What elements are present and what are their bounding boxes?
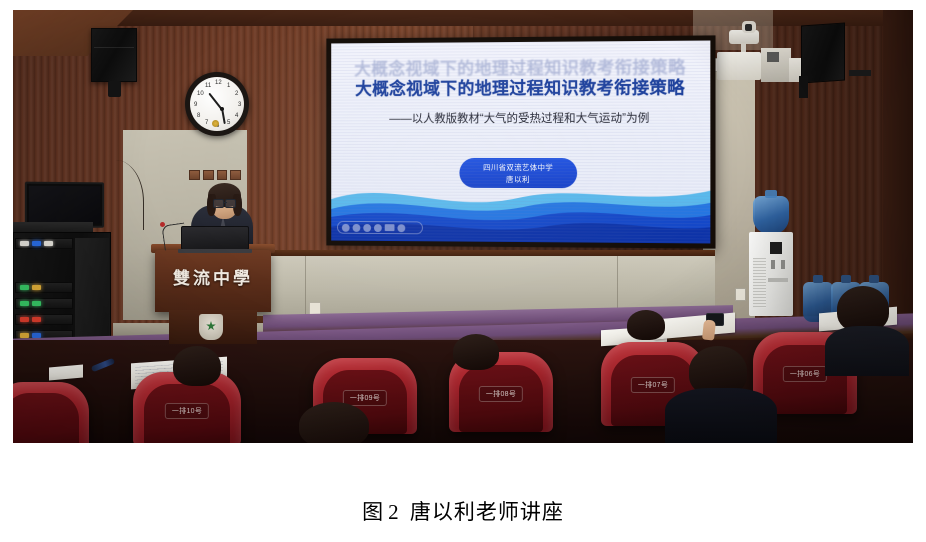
status-led xyxy=(32,301,41,306)
clock-number: 4 xyxy=(235,113,238,119)
status-led xyxy=(20,285,29,290)
clock-number: 8 xyxy=(197,113,200,119)
lens-left xyxy=(213,199,224,208)
attendee-hand xyxy=(702,319,716,340)
speaker-seam xyxy=(94,47,134,48)
vent-slat xyxy=(230,170,241,180)
glasses-icon xyxy=(213,199,236,207)
rack-device xyxy=(15,282,73,293)
dispenser-tap-hot[interactable] xyxy=(771,260,775,269)
projected-slide: 大概念视域下的地理过程知识教考衔接策略 大概念视域下的地理过程知识教考衔接策略 … xyxy=(331,41,710,244)
attendee-shoulders xyxy=(825,326,909,376)
status-led xyxy=(32,241,41,246)
speaker-support-arm xyxy=(849,70,871,76)
presenter-school: 四川省双流艺体中学 xyxy=(483,161,553,172)
status-led xyxy=(20,317,29,322)
presenter-name: 唐以利 xyxy=(506,173,530,184)
clock-face: 12 1 2 3 4 5 6 7 8 9 10 11 xyxy=(190,77,244,131)
microphone-head xyxy=(160,222,165,227)
clock-pendulum xyxy=(212,120,219,127)
wall-vent-grille xyxy=(189,170,241,180)
status-led xyxy=(20,301,29,306)
attendee-head xyxy=(299,402,369,443)
rack-device xyxy=(15,298,73,309)
caption-prefix: 图 xyxy=(362,500,384,524)
vent-slat xyxy=(217,170,228,180)
rack-device xyxy=(15,238,73,249)
ceiling-trim xyxy=(13,10,913,26)
figure-caption: 图2 唐以利老师讲座 xyxy=(0,496,926,526)
status-led xyxy=(20,241,29,246)
projection-screen: 大概念视域下的地理过程知识教考衔接策略 大概念视域下的地理过程知识教考衔接策略 … xyxy=(326,35,715,248)
highlighter-icon[interactable] xyxy=(363,224,371,232)
clock-number: 3 xyxy=(238,102,241,108)
dispenser-panel xyxy=(770,242,782,254)
seat-number-label: 一排08号 xyxy=(479,386,523,402)
seat-number-label: 一排10号 xyxy=(165,403,209,419)
slide-title: 大概念视域下的地理过程知识教考衔接策略 xyxy=(331,73,710,100)
power-outlet-icon xyxy=(735,288,746,301)
status-led xyxy=(32,317,41,322)
school-emblem-icon xyxy=(199,314,223,340)
attendee-head xyxy=(453,334,499,370)
wooden-podium: 雙流中學 xyxy=(155,250,271,312)
slide-subtitle: ——以人教版教材“大气的受热过程和大气运动”为例 xyxy=(331,110,710,127)
monitor-screen xyxy=(29,186,100,224)
grid-icon[interactable] xyxy=(374,224,382,232)
dispenser-tap-cold[interactable] xyxy=(781,260,785,269)
wall-clock: 12 1 2 3 4 5 6 7 8 9 10 11 xyxy=(185,72,249,136)
clock-number: 5 xyxy=(227,120,230,126)
pointer-icon[interactable] xyxy=(342,223,350,231)
attendee-head xyxy=(627,310,665,340)
dispenser-grille xyxy=(753,258,766,308)
lens-right xyxy=(225,199,236,208)
seat-number-label: 一排06号 xyxy=(783,366,827,382)
screen-icon[interactable] xyxy=(385,224,395,231)
rack-device xyxy=(15,314,73,325)
dispenser-drip-tray xyxy=(768,278,788,282)
attendee-head xyxy=(173,346,221,386)
pen-circle-icon[interactable] xyxy=(353,223,361,231)
panel-seam xyxy=(305,256,306,318)
water-bottle xyxy=(753,196,789,234)
clock-number: 12 xyxy=(215,80,222,86)
seat-number-label: 一排07号 xyxy=(631,377,675,393)
clock-number: 1 xyxy=(227,83,230,89)
clock-number: 10 xyxy=(197,91,204,97)
vent-slat xyxy=(203,170,214,180)
clock-center-pin xyxy=(220,107,224,111)
clock-hour-hand xyxy=(221,109,226,124)
status-led xyxy=(32,285,41,290)
podium-school-name: 雙流中學 xyxy=(155,264,271,289)
caption-number: 2 xyxy=(388,500,400,524)
wall-speaker-right xyxy=(801,22,845,83)
projector-unit xyxy=(717,52,761,80)
seat-row1-partial-left[interactable] xyxy=(13,382,89,443)
clock-number: 9 xyxy=(194,102,197,108)
podium-laptop xyxy=(181,226,249,250)
status-led xyxy=(44,241,53,246)
seat-cushion xyxy=(13,393,79,443)
camera-lens-icon xyxy=(745,24,752,31)
attendee-shoulders xyxy=(665,388,777,443)
more-options-icon[interactable] xyxy=(397,224,405,232)
lecture-photo: 12 1 2 3 4 5 6 7 8 9 10 11 大概念视域下的地理过程 xyxy=(13,10,913,443)
clock-number: 2 xyxy=(235,91,238,97)
caption-text: 唐以利老师讲座 xyxy=(410,500,564,524)
ceiling-speaker-icon xyxy=(91,28,137,82)
presenter-info-badge: 四川省双流艺体中学 唐以利 xyxy=(459,158,577,188)
vent-slat xyxy=(189,170,200,180)
clock-number: 7 xyxy=(205,120,208,126)
wall-speaker-unit xyxy=(761,48,791,82)
clock-number: 11 xyxy=(205,83,211,89)
presentation-toolbar[interactable] xyxy=(337,221,423,234)
speaker-mount-bracket xyxy=(799,76,808,98)
